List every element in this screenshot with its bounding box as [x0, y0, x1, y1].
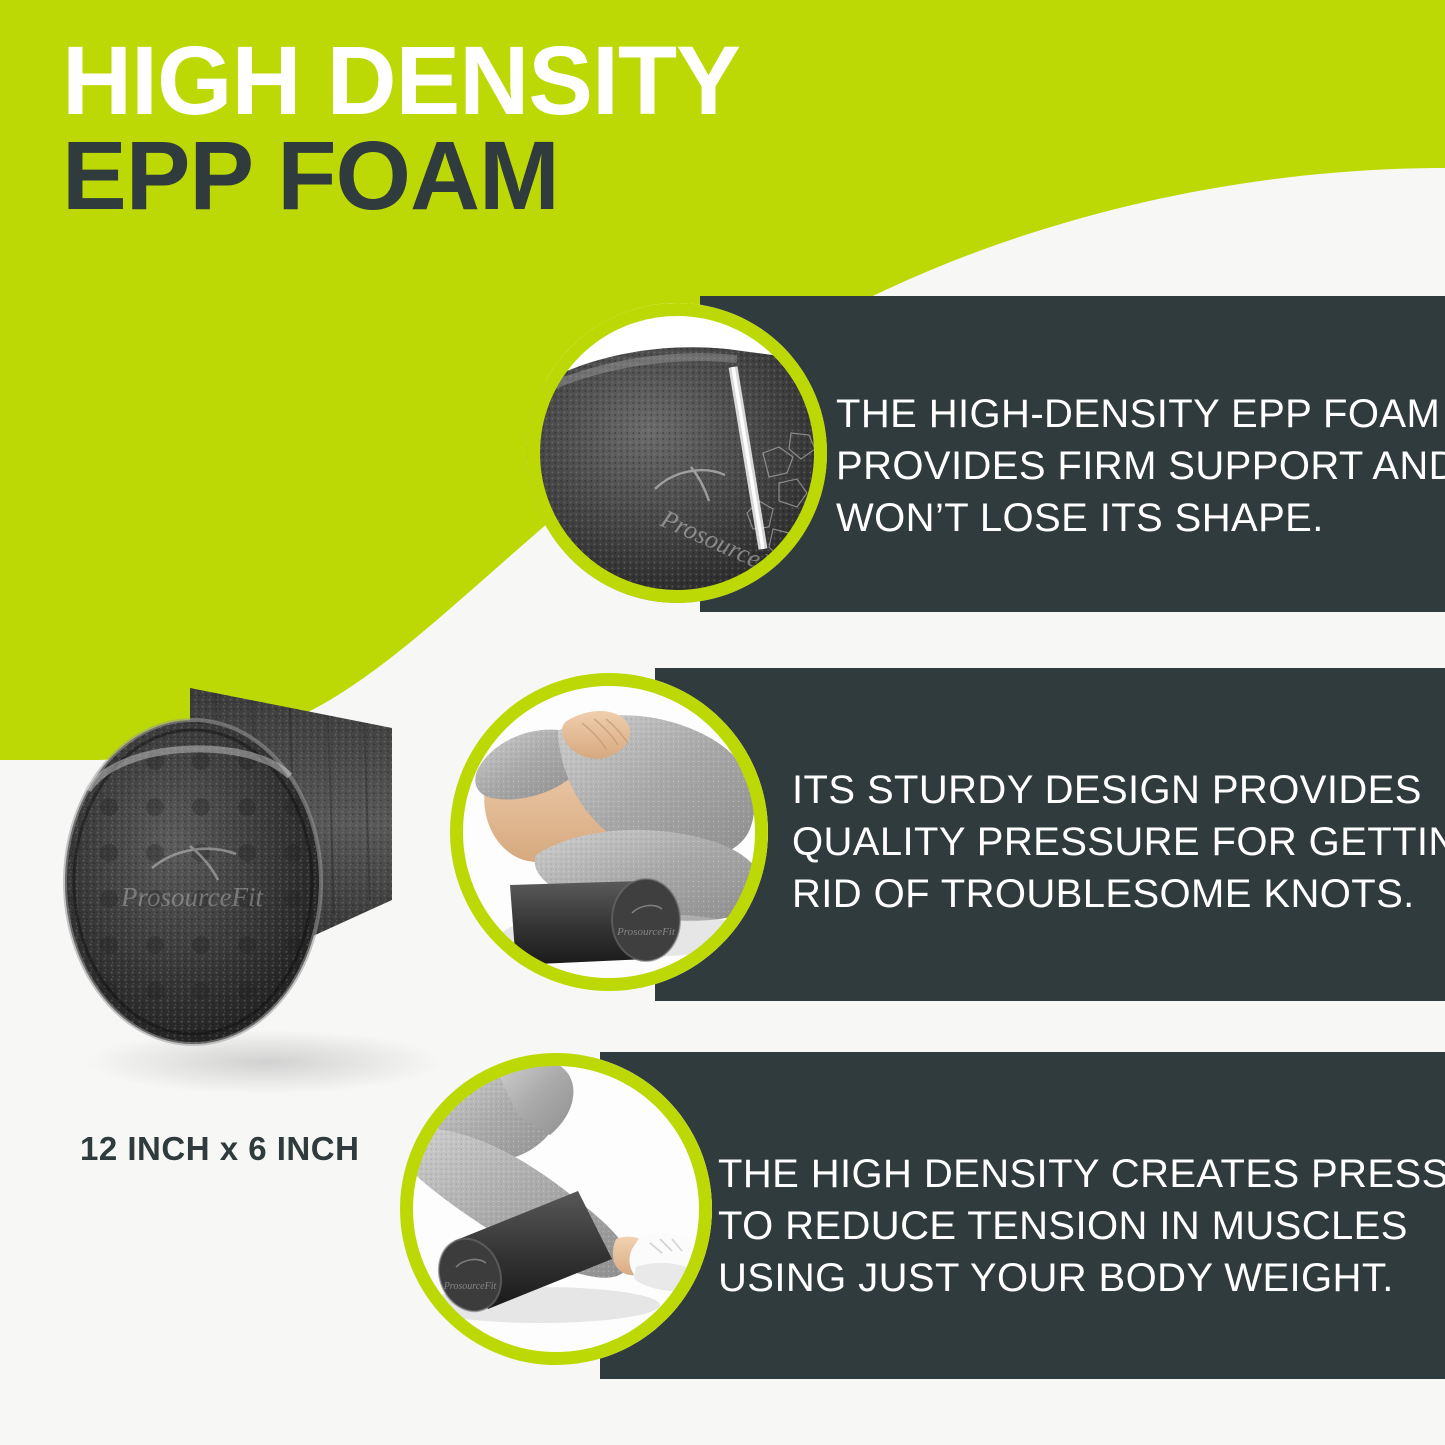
feature-text-1: THE HIGH-DENSITY EPP FOAM PROVIDES FIRM … [836, 388, 1436, 544]
page-title-line-1: HIGH DENSITY [62, 34, 962, 127]
feature-text-2: ITS STURDY DESIGN PROVIDES QUALITY PRESS… [792, 764, 1432, 920]
feature-text-1-line-1: THE HIGH-DENSITY EPP FOAM [836, 388, 1436, 440]
feature-text-1-line-3: WON’T LOSE ITS SHAPE. [836, 492, 1436, 544]
page-title-line-2: EPP FOAM [62, 127, 962, 226]
feature-text-3: THE HIGH DENSITY CREATES PRESSURE TO RED… [718, 1148, 1443, 1304]
dimension-label: 12 INCH x 6 INCH [80, 1130, 359, 1168]
page-title: HIGH DENSITY EPP FOAM [62, 34, 962, 226]
feature-text-2-line-3: RID OF TROUBLESOME KNOTS. [792, 868, 1432, 920]
brand-mark-hero: ProsourceFit [120, 882, 264, 912]
hero-product-image: ProsourceFit [40, 600, 460, 1100]
feature-image-2: ProsourceFit [450, 673, 768, 991]
brand-mark-badge-2: ProsourceFit [616, 926, 676, 938]
feature-text-3-line-3: USING JUST YOUR BODY WEIGHT. [718, 1252, 1443, 1304]
feature-text-3-line-1: THE HIGH DENSITY CREATES PRESSURE [718, 1148, 1443, 1200]
product-infographic: HIGH DENSITY EPP FOAM [0, 0, 1445, 1445]
feature-text-2-line-1: ITS STURDY DESIGN PROVIDES [792, 764, 1432, 816]
brand-mark-badge-3: ProsourceFit [443, 1281, 497, 1292]
feature-image-1: ProsourceFit [527, 303, 827, 603]
feature-text-1-line-2: PROVIDES FIRM SUPPORT AND [836, 440, 1436, 492]
feature-image-3: ProsourceFit [400, 1053, 712, 1365]
feature-text-3-line-2: TO REDUCE TENSION IN MUSCLES [718, 1200, 1443, 1252]
feature-text-2-line-2: QUALITY PRESSURE FOR GETTING [792, 816, 1432, 868]
